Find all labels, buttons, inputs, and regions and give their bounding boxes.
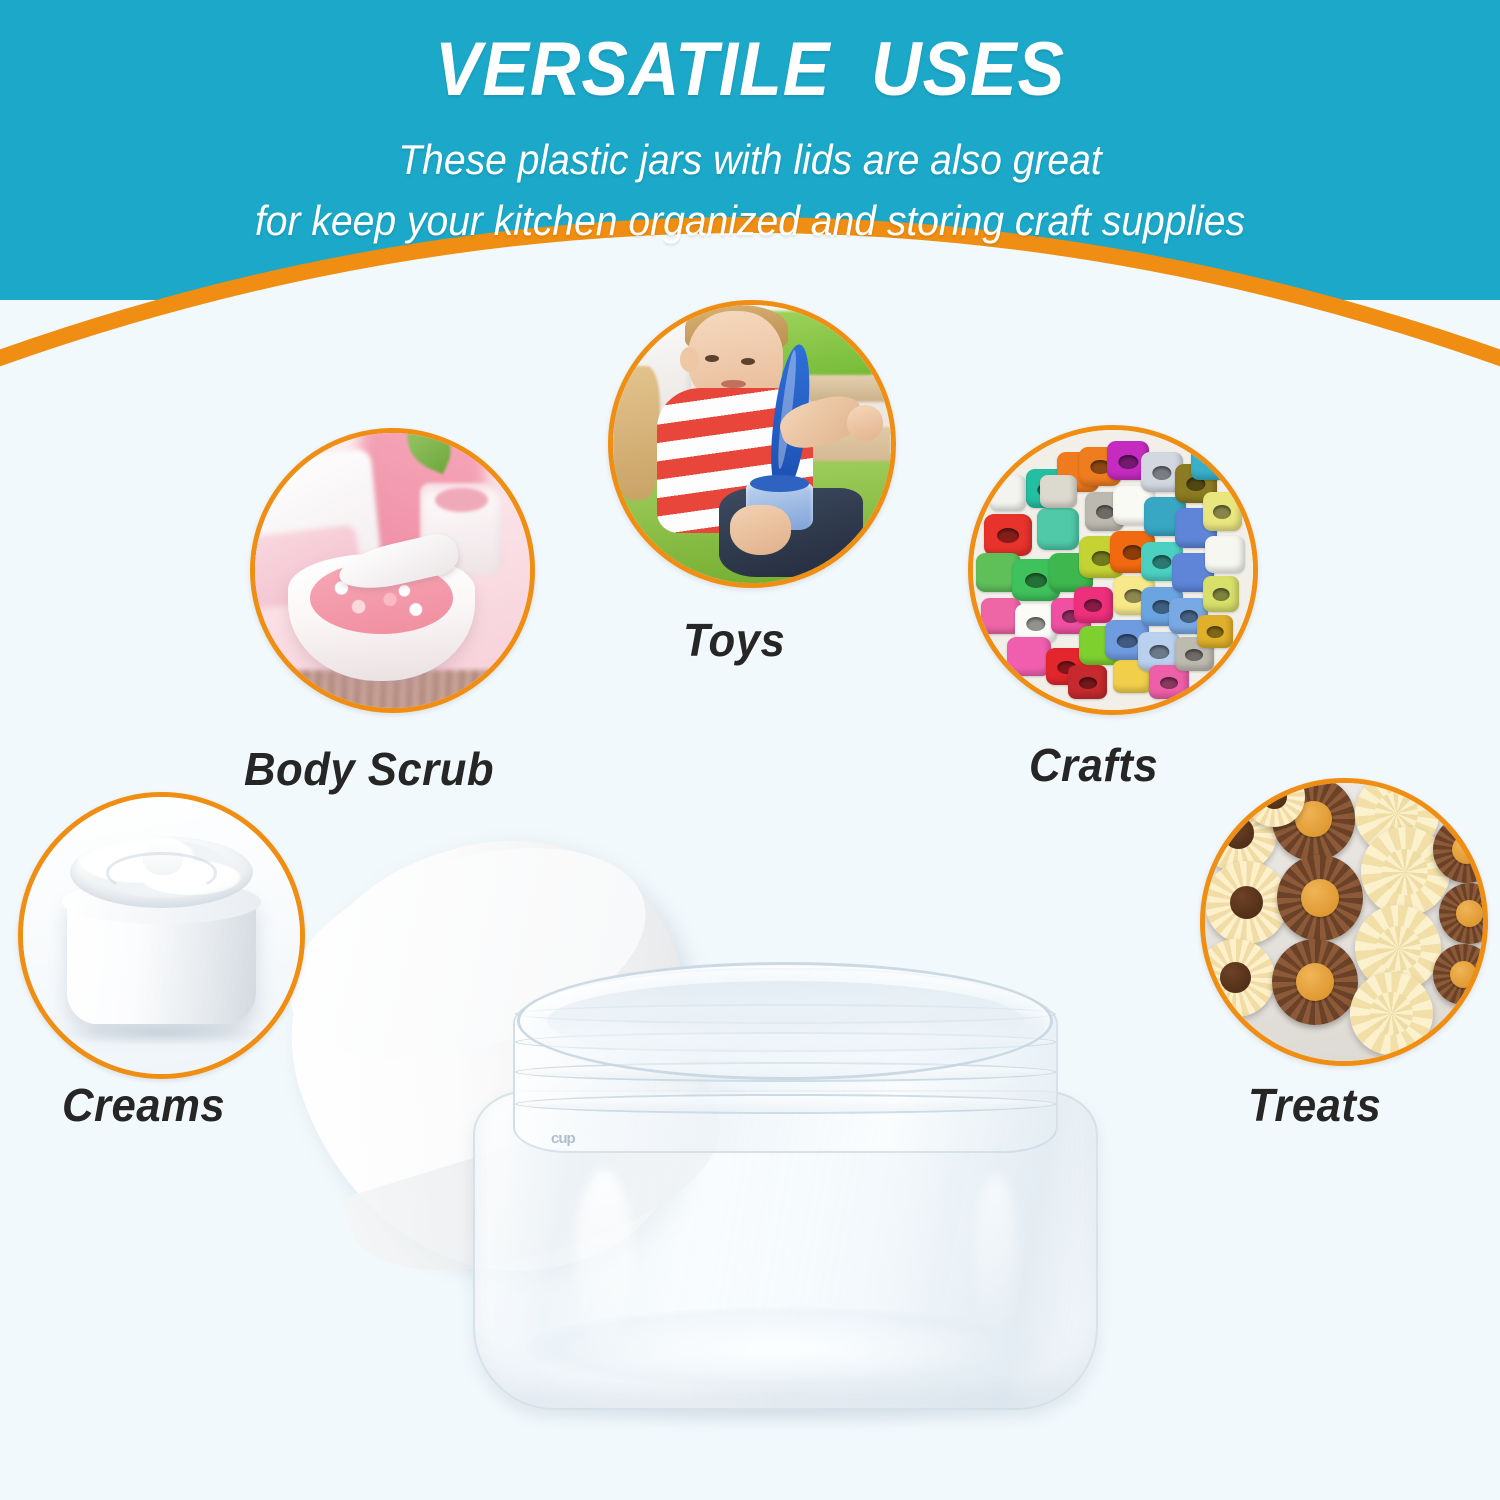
use-case-label-toys: Toys (683, 613, 785, 667)
colorful-beads-icon (973, 430, 1253, 710)
page-subtitle: These plastic jars with lids are also gr… (53, 130, 1448, 252)
butter-cookies-icon (1205, 783, 1483, 1061)
use-case-label-treats: Treats (1248, 1078, 1381, 1132)
treats-photo[interactable] (1200, 778, 1488, 1066)
jar-highlight-right (975, 1175, 1017, 1340)
jar-highlight-left (575, 1170, 633, 1350)
body-scrub-photo[interactable] (250, 428, 535, 713)
bath-salt-bowl-icon (255, 433, 530, 708)
infographic-canvas: VERSATILE USES These plastic jars with l… (0, 0, 1500, 1500)
use-case-label-creams: Creams (62, 1078, 225, 1132)
jar-thread (515, 1094, 1056, 1114)
crafts-photo[interactable] (968, 425, 1258, 715)
cream-jar-icon (23, 797, 300, 1074)
jar-embossed-mark: cup (551, 1130, 575, 1147)
use-case-label-body-scrub: Body Scrub (244, 742, 494, 796)
child-with-slime-icon (613, 305, 891, 583)
use-case-label-crafts: Crafts (1029, 738, 1158, 792)
page-title: VERSATILE USES (60, 26, 1440, 113)
creams-photo[interactable] (18, 792, 305, 1079)
toys-photo[interactable] (608, 300, 896, 588)
jar-opening (517, 962, 1053, 1080)
clear-plastic-jar: cup (455, 960, 1115, 1430)
